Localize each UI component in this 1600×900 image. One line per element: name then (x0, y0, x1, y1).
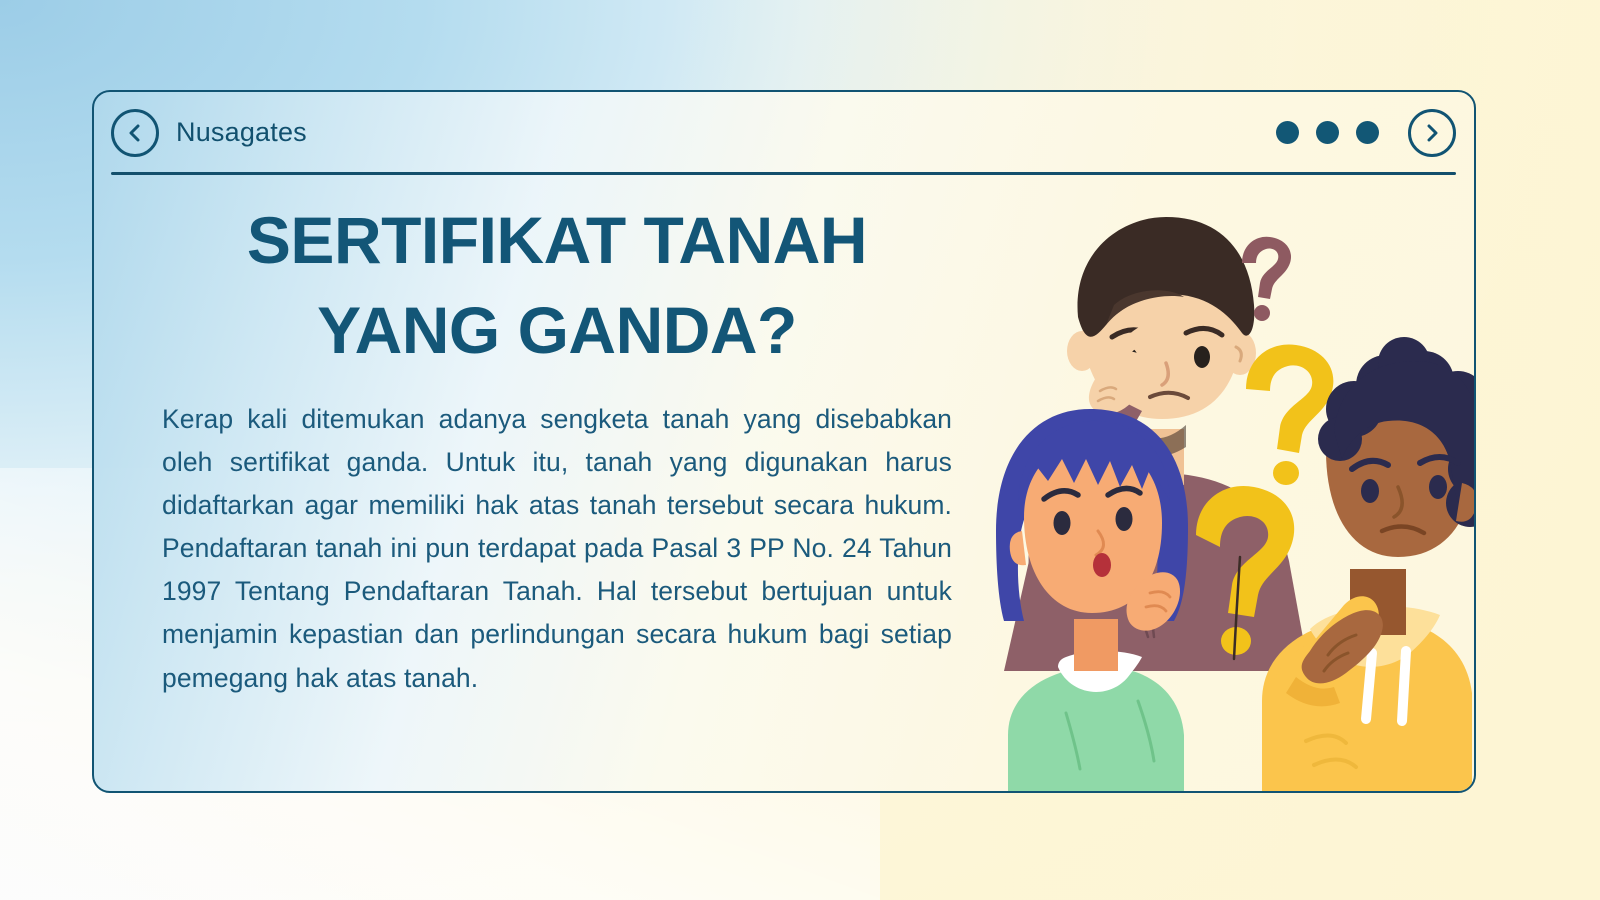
man-with-curly-hair-hoodie (1262, 337, 1474, 791)
body-paragraph: Kerap kali ditemukan adanya sengketa tan… (162, 398, 952, 700)
chevron-right-circle-icon[interactable] (1408, 109, 1456, 157)
page-title-line-2: YANG GANDA? (162, 286, 952, 376)
pagination-dots (1276, 121, 1379, 144)
header-divider (111, 172, 1456, 175)
card-header: Nusagates (94, 92, 1474, 174)
brand-title: Nusagates (176, 117, 307, 148)
pagination-dot-3[interactable] (1356, 121, 1379, 144)
slide-card: Nusagates SERTIFIKAT TANAH YANG GANDA? K… (92, 90, 1476, 793)
three-confused-people-illustration (974, 201, 1474, 791)
page-title: SERTIFIKAT TANAH YANG GANDA? (162, 196, 952, 376)
chevron-left-circle-icon[interactable] (111, 109, 159, 157)
pagination-dot-1[interactable] (1276, 121, 1299, 144)
page-title-line-1: SERTIFIKAT TANAH (162, 196, 952, 286)
slide-content: SERTIFIKAT TANAH YANG GANDA? Kerap kali … (162, 196, 952, 700)
question-mark-medium (1246, 344, 1333, 485)
pagination-dot-2[interactable] (1316, 121, 1339, 144)
